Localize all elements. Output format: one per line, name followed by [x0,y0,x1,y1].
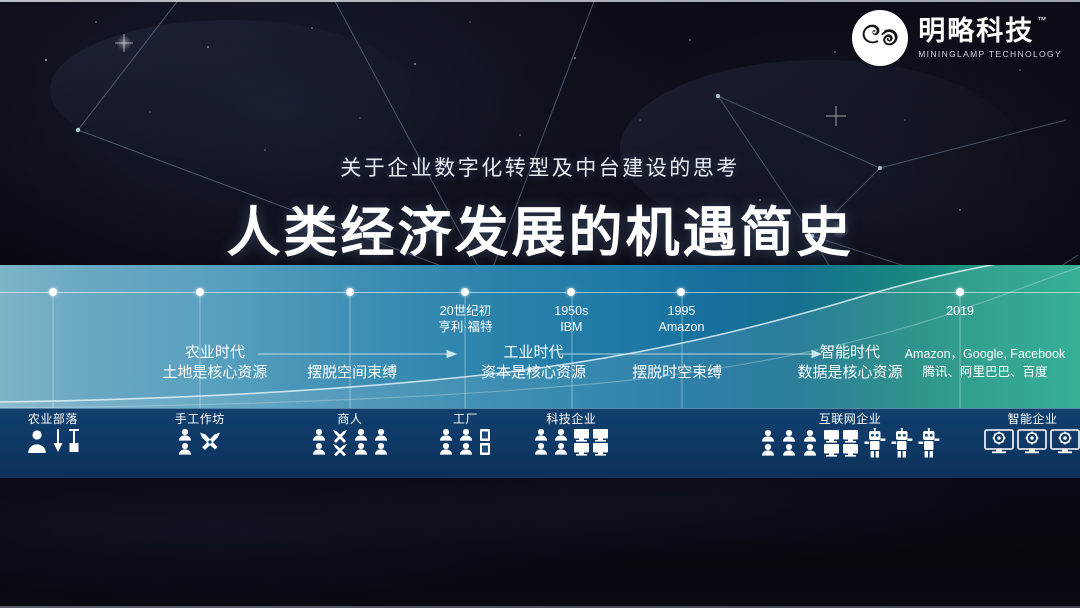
machine-icon [478,428,492,456]
robot-icon [918,428,940,458]
actor-group-farming-tribe: 农业部落 [26,409,80,479]
ai-monitor-icon [1050,428,1080,456]
era-name: 智能时代 [797,343,902,363]
logo-text-block: 明略科技™ MININGLAMP TECHNOLOGY [918,18,1062,59]
timeline-dot [956,288,964,296]
tools-icon [331,428,349,456]
people-grid-icon [802,429,818,457]
era-block-industry: 工业时代 资本是核心资源 [481,343,586,383]
actor-group-tech-company: 科技企业 [533,409,609,479]
era-resource: 资本是核心资源 [481,363,586,383]
actor-icons [311,428,389,456]
top-divider-line [0,0,1080,2]
people-grid-icon [553,428,569,456]
page-title: 人类经济发展的机遇简史 [0,188,1080,267]
ai-monitor-icon [1017,428,1047,456]
year-actor: 亨利·福特 [438,319,492,335]
people-grid-icon [533,428,549,456]
actor-group-workshop: 手工作坊 [175,409,225,479]
actor-icons [760,428,940,458]
timeline-axis-line [0,292,1080,293]
transition-label-spacetime: 摆脱时空束缚 [632,361,722,382]
ai-monitor-icon [984,428,1014,456]
brand-logo: 明略科技™ MININGLAMP TECHNOLOGY [852,10,1062,66]
growth-curve-chart [0,265,1080,408]
actor-label: 互联网企业 [819,412,882,426]
hammer-wrench-icon [197,429,223,455]
timeline-dot [196,288,204,296]
people-stack-icon [177,428,193,456]
era-resource: 数据是核心资源 [797,363,902,383]
lower-space-background [0,478,1080,608]
era-resource: 土地是核心资源 [162,363,267,383]
timeline-dot [567,288,575,296]
logo-company-name-cn: 明略科技™ [918,18,1034,45]
tech-giants-list: Amazon，Google, Facebook 腾讯、阿里巴巴、百度 [905,345,1066,381]
timeline-year-label: 2019 [946,303,974,319]
lower-space-region [0,478,1080,608]
people-grid-icon [458,428,474,456]
person-icon [26,428,48,454]
slide-subtitle: 关于企业数字化转型及中台建设的思考 [0,152,1080,182]
timeline-band: 20世纪初 亨利·福特 1950s IBM 1995 Amazon 2019 农… [0,265,1080,408]
year-value: 2019 [946,304,974,318]
logo-company-name-en: MININGLAMP TECHNOLOGY [918,50,1062,59]
mininglamp-circle-logo [852,10,908,66]
monitor-grid-icon [823,429,859,457]
timeline-dot [346,288,354,296]
people-grid-icon [760,429,776,457]
people-grid-icon [353,428,369,456]
actor-group-factory: 工厂 [438,409,492,479]
actor-icons [533,428,609,456]
monitor-grid-icon [573,428,609,456]
year-actor: Amazon [659,319,705,335]
timeline-year-label: 20世纪初 亨利·福特 [438,303,492,335]
people-grid-icon [781,429,797,457]
year-value: 20世纪初 [440,304,491,318]
actor-icon-strip: 农业部落 手工作坊 [0,408,1080,478]
actor-group-intelligent-company: 智能企业 [984,409,1080,479]
shovel-icon [52,428,64,454]
era-name: 农业时代 [162,343,267,363]
actor-icons [438,428,492,456]
robot-icon [864,428,886,458]
timeline-year-label: 1995 Amazon [659,303,705,335]
slide-canvas: 明略科技™ MININGLAMP TECHNOLOGY 关于企业数字化转型及中台… [0,0,1080,608]
robot-icon [891,428,913,458]
spade-icon [68,428,80,454]
logo-glyph [854,12,906,64]
trademark-icon: ™ [1037,16,1046,25]
growth-curve-fill [0,265,1080,408]
people-grid-icon [438,428,454,456]
year-value: 1995 [668,304,696,318]
actor-group-merchant: 商人 [311,409,389,479]
actor-label: 科技企业 [546,412,596,426]
actor-icons [177,428,223,456]
actor-icons [984,428,1080,456]
tech-giants-china: 腾讯、阿里巴巴、百度 [905,363,1066,381]
era-block-agriculture: 农业时代 土地是核心资源 [162,343,267,383]
era-block-intelligence: 智能时代 数据是核心资源 [797,343,902,383]
timeline-dot [49,288,57,296]
year-actor: IBM [554,319,588,335]
people-grid-icon [311,428,327,456]
actor-label: 智能企业 [1007,412,1057,426]
timeline-year-label: 1950s IBM [554,303,588,335]
era-name: 工业时代 [481,343,586,363]
actor-label: 工厂 [453,412,478,426]
tech-giants-global: Amazon，Google, Facebook [905,345,1066,363]
actor-label: 手工作坊 [175,412,225,426]
transition-label-space: 摆脱空间束缚 [307,361,397,382]
actor-label: 农业部落 [28,412,78,426]
people-grid-icon [373,428,389,456]
actor-label: 商人 [337,412,362,426]
year-value: 1950s [554,304,588,318]
actor-icons [26,428,80,454]
actor-group-internet-company: 互联网企业 [760,409,940,479]
